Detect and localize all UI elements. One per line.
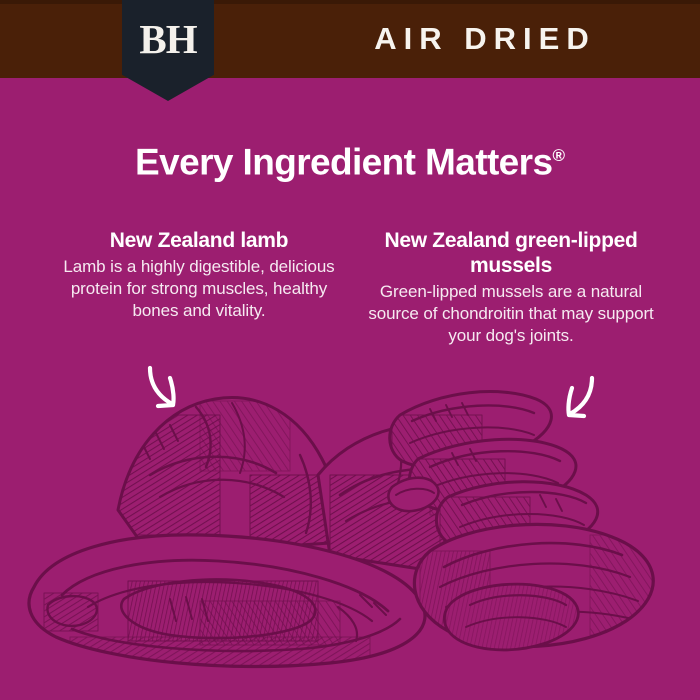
page-title-text: Every Ingredient Matters <box>135 141 552 182</box>
page-title: Every Ingredient Matters® <box>0 134 700 184</box>
product-tagline: AIR DRIED <box>300 20 670 58</box>
ingredient-description: Lamb is a highly digestible, delicious p… <box>48 256 350 322</box>
ingredient-title: New Zealand lamb <box>48 228 350 253</box>
lamb-roast-shape <box>110 398 345 555</box>
ingredient-column-mussels: New Zealand green-lipped mussels Green-l… <box>356 228 666 347</box>
ingredient-column-lamb: New Zealand lamb Lamb is a highly digest… <box>48 228 350 322</box>
title-registered-icon: ® <box>552 146 565 165</box>
ingredient-description: Green-lipped mussels are a natural sourc… <box>356 281 666 347</box>
brand-monogram: BH <box>139 19 196 60</box>
header-top-rule <box>0 0 700 4</box>
ingredient-info-card: AIR DRIED ® BH Every Ingredient Matters®… <box>0 0 700 700</box>
lamb-and-mussels-illustration <box>0 355 700 700</box>
ingredient-title: New Zealand green-lipped mussels <box>356 228 666 278</box>
brand-shield-logo[interactable]: BH <box>122 0 214 101</box>
